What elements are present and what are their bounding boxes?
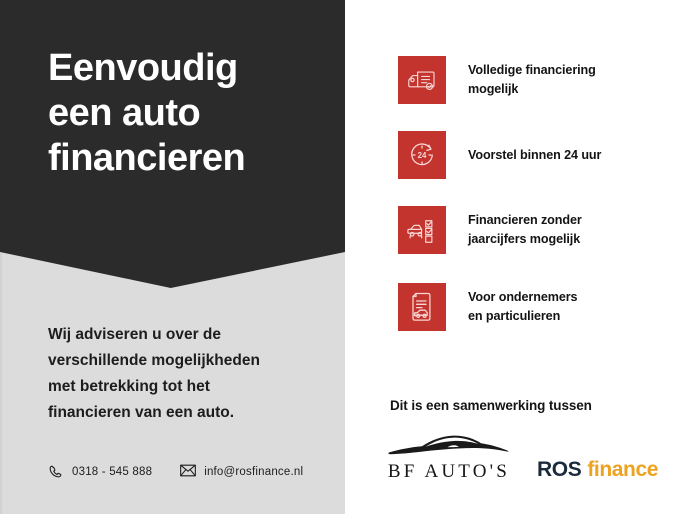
logo-ros-finance[interactable]: ROSfinance	[537, 458, 658, 482]
feature-item: Volledige financiering mogelijk	[398, 56, 596, 104]
feature-label: Voor ondernemers en particulieren	[468, 288, 577, 326]
partners-title: Dit is een samenwerking tussen	[390, 398, 592, 413]
feature-item: 24 Voorstel binnen 24 uur	[398, 131, 601, 179]
logo-ros-word: ROS	[537, 458, 581, 481]
car-checklist-icon	[398, 206, 446, 254]
partner-logos: BF AUTO'S ROSfinance	[365, 425, 685, 500]
page-title: Eenvoudig een auto financieren	[48, 46, 333, 181]
promo-poster: Eenvoudig een auto financieren Wij advis…	[0, 0, 685, 514]
feature-label: Financieren zonder jaarcijfers mogelijk	[468, 211, 582, 249]
right-panel: Volledige financiering mogelijk 24 Voors…	[345, 0, 685, 514]
contact-email[interactable]: info@rosfinance.nl	[180, 464, 303, 479]
feature-label: Volledige financiering mogelijk	[468, 61, 596, 99]
contact-phone[interactable]: 0318 - 545 888	[48, 464, 152, 479]
intro-paragraph: Wij adviseren u over de verschillende mo…	[48, 322, 316, 426]
delivery-van-document-icon	[398, 56, 446, 104]
logo-finance-word: finance	[587, 458, 658, 481]
document-car-icon	[398, 283, 446, 331]
feature-item: Financieren zonder jaarcijfers mogelijk	[398, 206, 582, 254]
feature-label: Voorstel binnen 24 uur	[468, 146, 601, 165]
contact-row: 0318 - 545 888 info@rosfinance.nl	[48, 464, 303, 479]
24-hour-clock-icon: 24	[398, 131, 446, 179]
feature-item: Voor ondernemers en particulieren	[398, 283, 577, 331]
phone-icon	[48, 464, 63, 479]
left-panel: Eenvoudig een auto financieren Wij advis…	[0, 0, 345, 514]
phone-number: 0318 - 545 888	[72, 466, 152, 478]
logo-bf-autos-text: BF AUTO'S	[373, 461, 525, 483]
envelope-icon	[180, 464, 195, 479]
logo-bf-autos[interactable]: BF AUTO'S	[373, 429, 525, 483]
email-address: info@rosfinance.nl	[204, 466, 303, 478]
car-silhouette-icon	[385, 429, 513, 459]
svg-text:24: 24	[418, 151, 427, 160]
